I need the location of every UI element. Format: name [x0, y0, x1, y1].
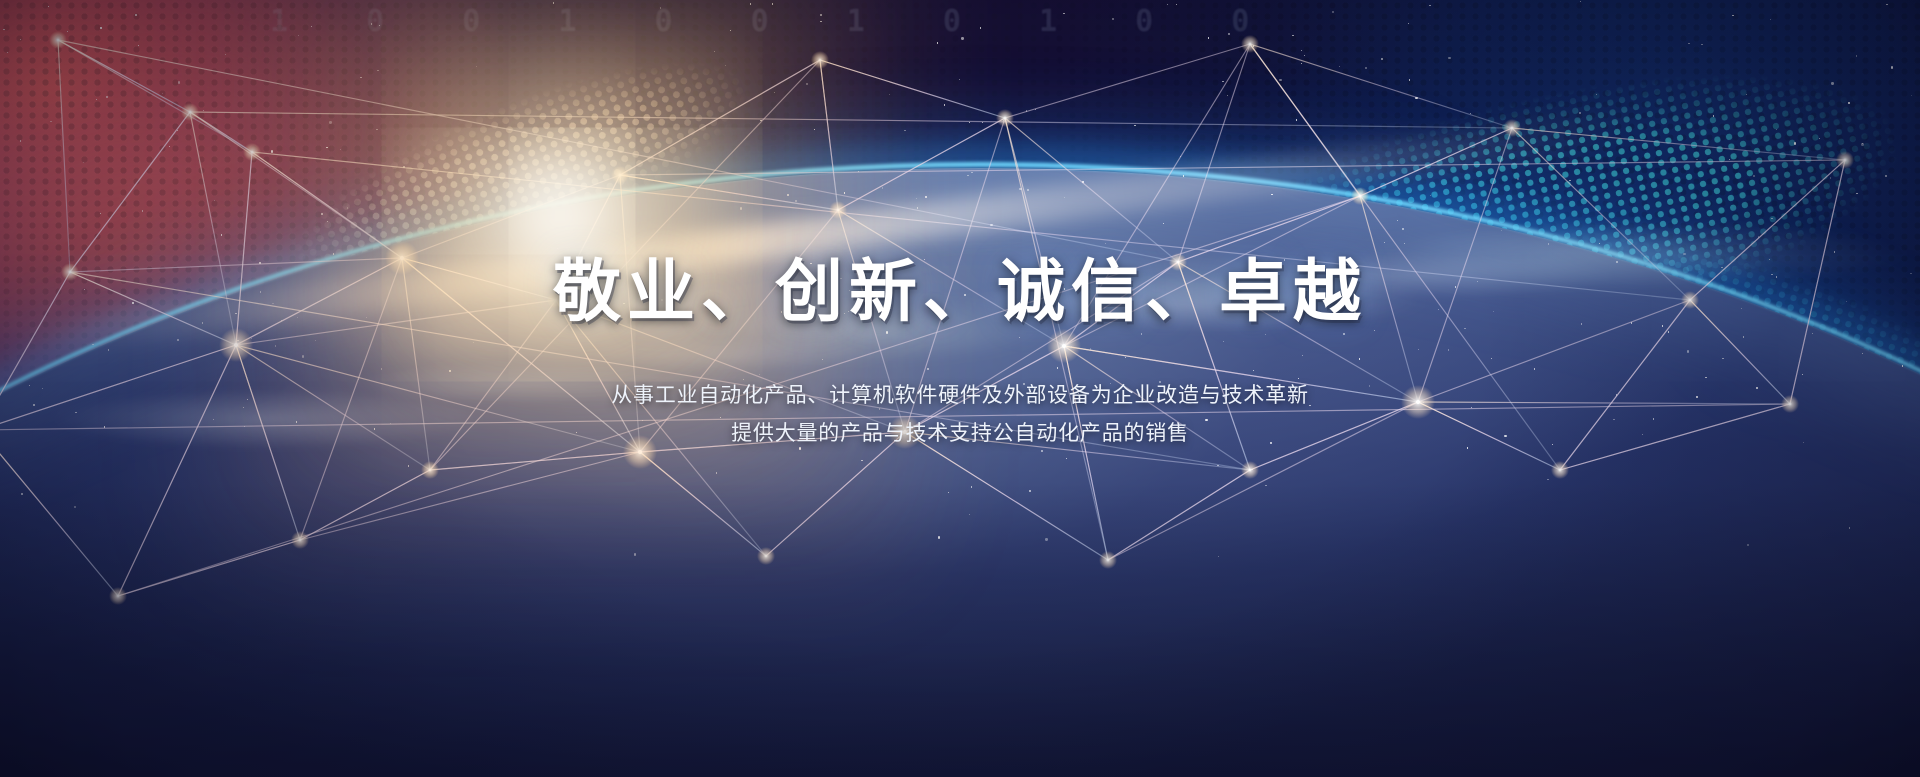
- banner-copy: 敬业、创新、诚信、卓越 从事工业自动化产品、计算机软件硬件及外部设备为企业改造与…: [0, 258, 1920, 453]
- hero-banner: 1 0 0 1 0 0 1 0 1 0 0: [0, 0, 1920, 777]
- banner-subtitle-line-1: 从事工业自动化产品、计算机软件硬件及外部设备为企业改造与技术革新: [0, 377, 1920, 415]
- banner-subtitle-line-2: 提供大量的产品与技术支持公自动化产品的销售: [0, 415, 1920, 453]
- banner-headline: 敬业、创新、诚信、卓越: [0, 258, 1920, 326]
